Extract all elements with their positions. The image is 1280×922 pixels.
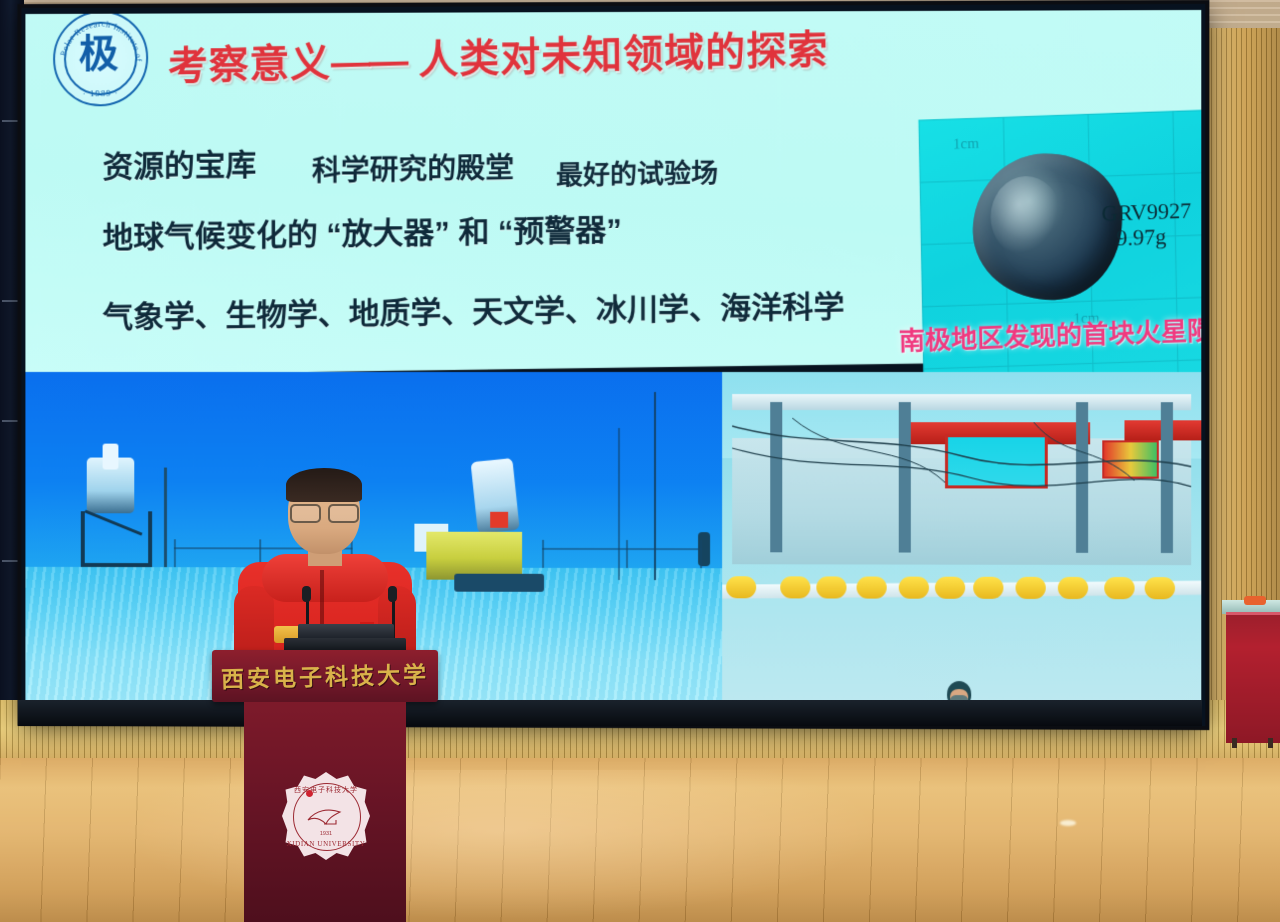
slide-title-dash: —— [331, 39, 407, 85]
meteorite-scale-label-top: 1cm [953, 136, 979, 154]
microphone-head-right [388, 586, 397, 602]
antenna-mast [654, 392, 656, 580]
lecture-hall-scene: Polar Research Institute of China 极 · 19… [0, 0, 1280, 922]
yellow-glove [973, 577, 1003, 599]
emblem-bottom-text: XIDIAN UNIVERSITY [282, 840, 370, 848]
station-cables [732, 408, 1191, 519]
red-side-cabinet [1226, 612, 1280, 743]
slide-title-sub: 人类对未知领域的探索 [418, 28, 828, 83]
led-presentation-screen[interactable]: Polar Research Institute of China 极 · 19… [21, 4, 1205, 726]
meteorite-mass: 9.97g [1102, 223, 1192, 251]
slide-body-line-3: 气象学、生物学、地质学、天文学、冰川学、海洋科学 [103, 281, 845, 337]
emblem-bird-icon [306, 806, 346, 828]
slide-line1-seg2: 科学研究的殿堂 [312, 144, 514, 189]
expedition-team-photo [722, 372, 1201, 720]
yellow-glove [899, 577, 929, 599]
lectern-podium[interactable]: 西安电子科技大学 西安电子科技大学 1931 XIDIAN UNIVERSITY [212, 650, 438, 922]
slide-title-main: 考察意义 [168, 41, 331, 89]
slide-line1-seg3: 最好的试验场 [556, 151, 718, 193]
meteorite-id: GRV9927 [1101, 198, 1191, 226]
eyeglasses-icon [290, 504, 358, 519]
floor-reflection [1060, 820, 1076, 826]
yellow-glove [1016, 577, 1046, 599]
logo-year: · 1989 · [55, 88, 146, 99]
slide-body-line-1: 资源的宝库科学研究的殿堂最好的试验场 [103, 132, 719, 187]
screen-bezel-bottom [18, 700, 1202, 726]
logo-glyph: 极 [73, 28, 124, 81]
yellow-glove [780, 576, 810, 598]
cabinet-object [1244, 596, 1266, 605]
slide-title: 考察意义—— 人类对未知领域的探索 [168, 17, 829, 92]
presentation-slide: Polar Research Institute of China 极 · 19… [25, 10, 1201, 376]
slide-line1-seg1: 资源的宝库 [103, 140, 257, 187]
podium-top-panel: 西安电子科技大学 [212, 650, 438, 702]
yellow-glove [726, 576, 756, 598]
emblem-dot-icon [306, 790, 313, 797]
polar-research-institute-logo: Polar Research Institute of China 极 · 19… [53, 10, 148, 107]
yellow-glove [935, 577, 965, 599]
left-wall-dark [0, 0, 24, 742]
speaker-hair [286, 468, 362, 502]
yellow-glove [1104, 577, 1134, 599]
emblem-top-text: 西安电子科技大学 [282, 785, 370, 795]
yellow-glove [1145, 577, 1175, 599]
xidian-university-emblem: 西安电子科技大学 1931 XIDIAN UNIVERSITY [282, 772, 370, 860]
equipment-crate [426, 532, 522, 580]
microphone-head-left [302, 586, 311, 602]
meteorite-id-block: GRV9927 9.97g [1101, 199, 1192, 252]
yellow-glove [1058, 577, 1088, 599]
screen-content: Polar Research Institute of China 极 · 19… [25, 10, 1201, 720]
yellow-glove [857, 577, 887, 599]
university-name-plate: 西安电子科技大学 [212, 655, 439, 695]
slide-body-line-2: 地球气候变化的 “放大器” 和 “预警器” [103, 205, 622, 258]
emblem-year: 1931 [282, 831, 370, 837]
yellow-glove [816, 576, 846, 598]
